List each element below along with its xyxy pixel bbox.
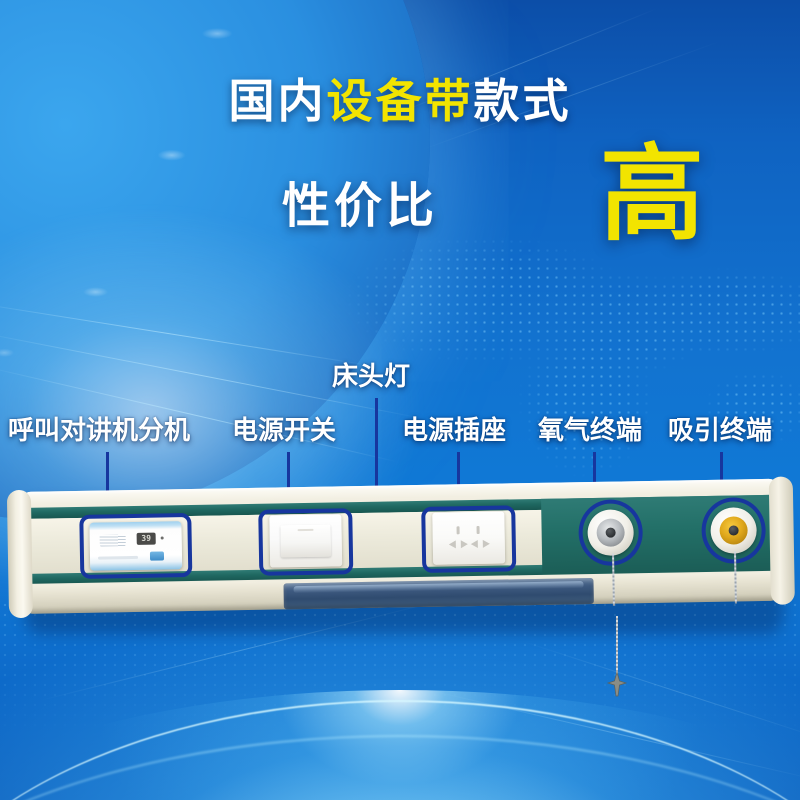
callout-label-power-socket: 电源插座 bbox=[402, 410, 506, 447]
panel-rotated-body: 39 bbox=[17, 479, 785, 624]
headline-part-1: 国内 bbox=[229, 74, 327, 128]
callout-label-suction-outlet: 吸引终端 bbox=[668, 410, 772, 447]
headline-line-2-row: 性价比 高 bbox=[0, 148, 800, 258]
headline-line-2: 性价比 bbox=[282, 166, 438, 236]
panel-end-cap-right bbox=[769, 476, 795, 604]
callout-label-power-switch: 电源开关 bbox=[232, 410, 336, 447]
highlight-box-intercom bbox=[79, 513, 192, 579]
panel-end-cap-left bbox=[7, 490, 33, 618]
banner-stage: 国内设备带款式 性价比 高 呼叫对讲机分机 电源开关 床头灯 电源插座 氧气终端… bbox=[0, 0, 800, 800]
highlight-box-power-socket bbox=[421, 505, 516, 573]
callout-label-intercom: 呼叫对讲机分机 bbox=[8, 410, 190, 447]
headline-block: 国内设备带款式 性价比 高 bbox=[0, 78, 800, 258]
headline-part-2: 设备带 bbox=[327, 74, 474, 128]
headline-line-1: 国内设备带款式 bbox=[0, 78, 800, 124]
pull-cord[interactable] bbox=[616, 616, 618, 676]
callout-label-oxygen-outlet: 氧气终端 bbox=[538, 410, 642, 447]
headline-part-3: 款式 bbox=[474, 74, 572, 128]
pull-cord-weight-icon[interactable] bbox=[606, 672, 628, 698]
headline-emphasis: 高 bbox=[600, 142, 704, 246]
bed-head-unit-panel: 39 bbox=[18, 492, 788, 637]
callout-label-bed-lamp: 床头灯 bbox=[332, 356, 410, 393]
highlight-box-power-switch bbox=[258, 508, 353, 576]
